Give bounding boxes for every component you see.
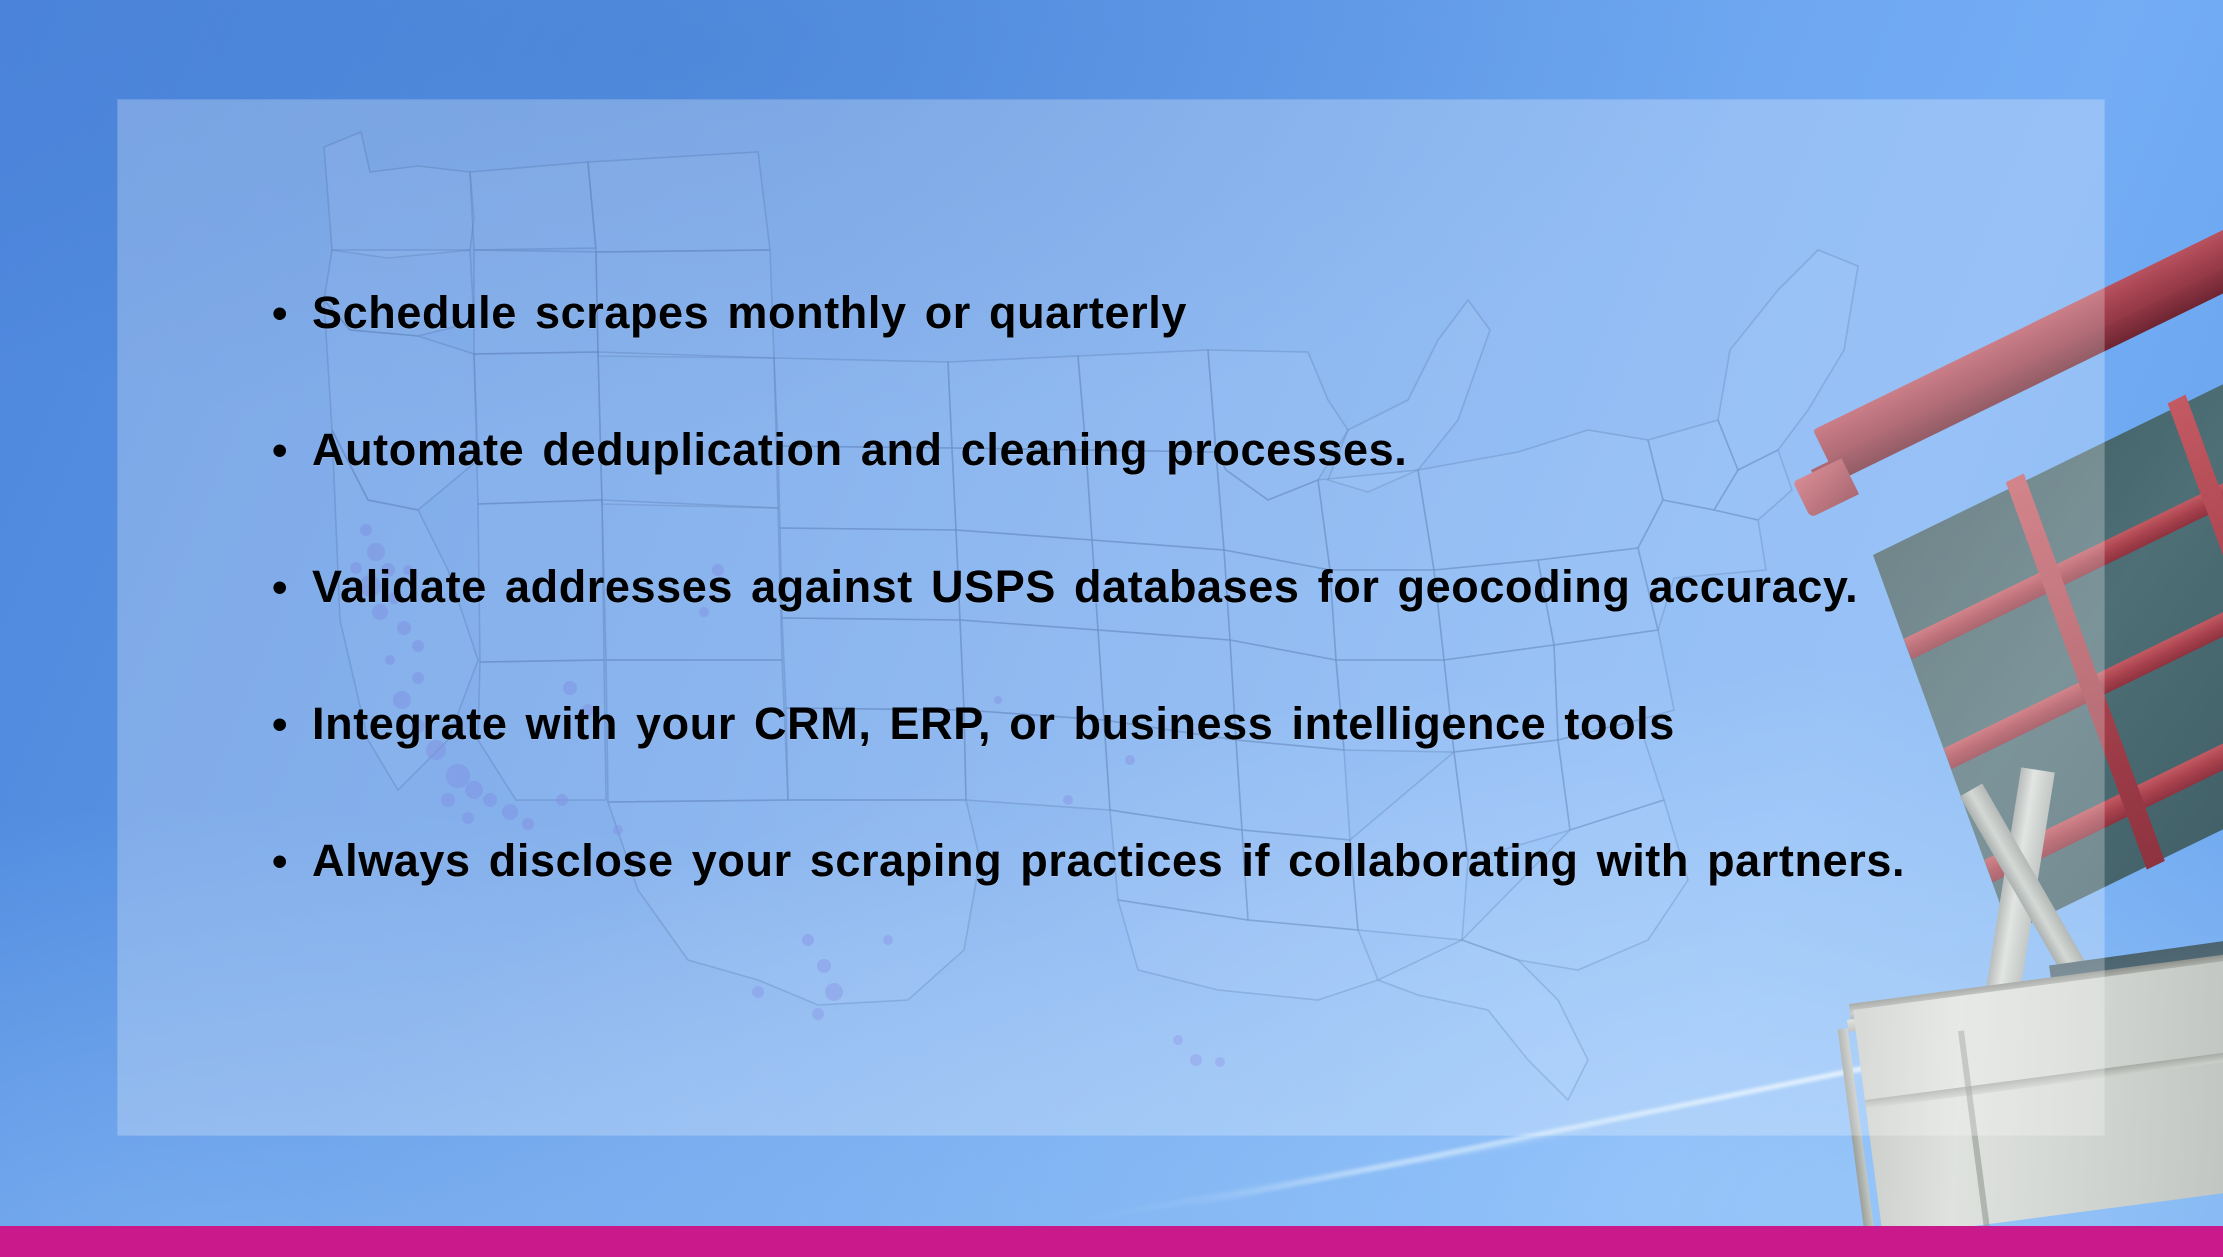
list-item: • Integrate with your CRM, ERP, or busin… <box>272 701 2072 838</box>
list-item: • Validate addresses against USPS databa… <box>272 564 2072 701</box>
bullet-text: Integrate with your CRM, ERP, or busines… <box>312 701 1675 746</box>
list-item: • Always disclose your scraping practice… <box>272 838 2072 975</box>
bullet-text: Always disclose your scraping practices … <box>312 838 1905 883</box>
list-item: • Schedule scrapes monthly or quarterly <box>272 290 2072 427</box>
bullet-point-icon: • <box>272 292 312 336</box>
bullet-point-icon: • <box>272 703 312 747</box>
footer-accent-bar <box>0 1226 2223 1257</box>
slide-canvas: • Schedule scrapes monthly or quarterly … <box>0 0 2223 1257</box>
bullet-text: Validate addresses against USPS database… <box>312 564 1858 609</box>
list-item: • Automate deduplication and cleaning pr… <box>272 427 2072 564</box>
bullet-list: • Schedule scrapes monthly or quarterly … <box>272 290 2072 975</box>
bullet-point-icon: • <box>272 566 312 610</box>
bullet-point-icon: • <box>272 429 312 473</box>
bullet-point-icon: • <box>272 840 312 884</box>
bullet-text: Schedule scrapes monthly or quarterly <box>312 290 1187 335</box>
bullet-text: Automate deduplication and cleaning proc… <box>312 427 1407 472</box>
content-panel: • Schedule scrapes monthly or quarterly … <box>118 100 2104 1135</box>
